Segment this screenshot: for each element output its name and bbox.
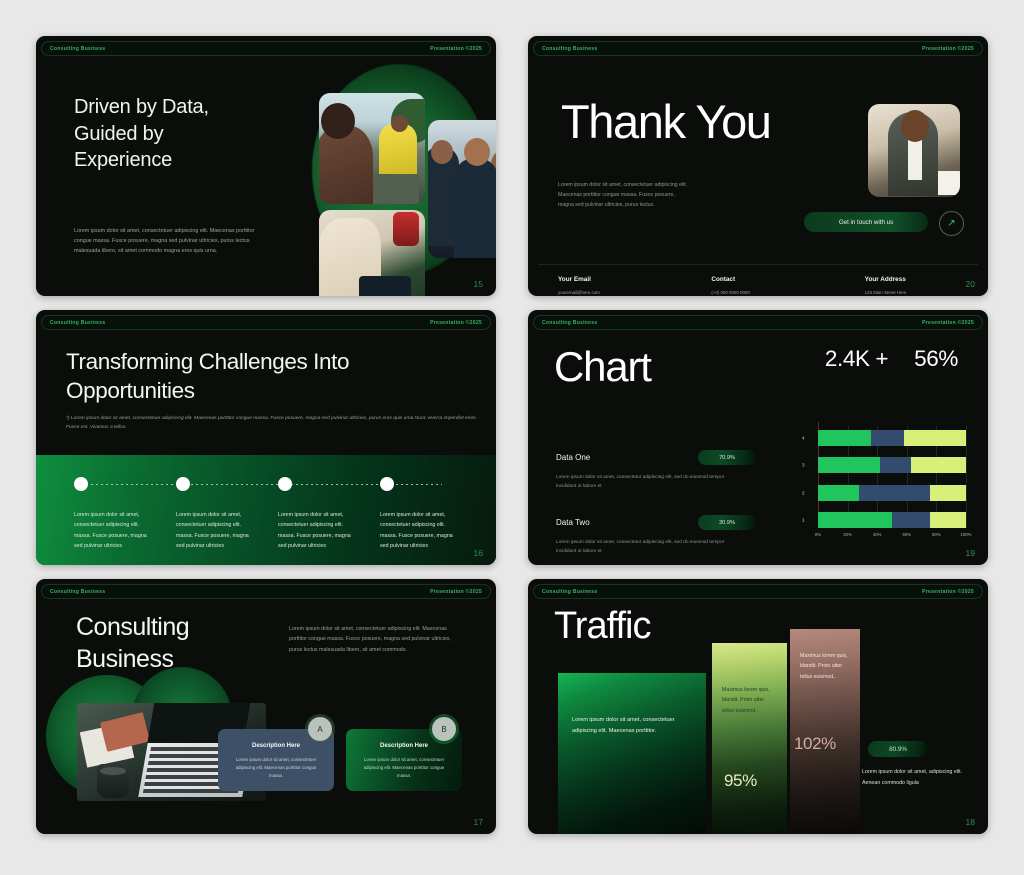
chart-x-tick: 100% [961, 532, 972, 537]
traffic-card-green-text: Lorem ipsum dolor sit amet, consectetuer… [558, 673, 706, 737]
data-two-title: Data Two [556, 518, 590, 527]
chart-bar-segment [930, 512, 966, 528]
body-text: Lorem ipsum dolor sit amet, consectetuer… [74, 226, 267, 256]
chart-x-tick: 80% [932, 532, 941, 537]
percent-value: 30.9% [719, 520, 735, 526]
timeline-dot-icon [176, 477, 190, 491]
data-one-percent-badge: 70.9% [698, 450, 756, 465]
chart-bar-segment [930, 485, 966, 501]
page-title: Traffic [554, 607, 650, 645]
page-title: Consulting Business [76, 611, 266, 675]
chart-y-tick: 3 [802, 463, 805, 468]
timeline-steps: Lorem ipsum dolor sit amet, consectetuer… [36, 455, 496, 551]
slide-consulting-business[interactable]: Consulting Business Presentation ©2025 C… [36, 579, 496, 834]
card-body: Lorem ipsum dolor sit amet, consectetuer… [230, 756, 322, 780]
card-title: Description Here [230, 743, 322, 749]
traffic-card-lime: Maximus lorem quis, blandit. Proin utter… [712, 643, 787, 834]
chart-y-tick: 1 [802, 518, 805, 523]
contact-label: Contact [711, 276, 834, 283]
chart-bar-segment [818, 485, 859, 501]
traffic-card-lime-text: Maximus lorem quis, blandit. Proin utter… [712, 643, 787, 716]
timeline-step-text: Lorem ipsum dolor sit amet, consectetuer… [74, 510, 148, 551]
header-brand: Consulting Business [50, 46, 105, 52]
chart-bar-row [818, 430, 966, 446]
page-title: Chart [554, 346, 651, 388]
chart-bar-segment [880, 457, 911, 473]
data-two-percent-badge: 30.9% [698, 515, 756, 530]
chart-bar-segment [818, 457, 880, 473]
contact-label: Your Email [558, 276, 681, 283]
percent-value: 70.9% [719, 455, 735, 461]
page-number: 17 [474, 817, 483, 827]
card-badge-b: B [432, 717, 456, 741]
chart-bar-segment [859, 485, 930, 501]
timeline-step-text: Lorem ipsum dolor sit amet, consectetuer… [380, 510, 454, 551]
timeline-dot-icon [278, 477, 292, 491]
kpi-total: 2.4K + [825, 346, 888, 372]
chart-bar-row [818, 457, 966, 473]
slide-header: Consulting Business Presentation ©2025 [533, 41, 983, 56]
data-one-body: Lorem ipsum dolor sit amet, consectetur … [556, 473, 734, 492]
chart-bar-segment [818, 430, 871, 446]
traffic-stat-mauve: 102% [794, 734, 836, 754]
timeline-step[interactable]: Lorem ipsum dolor sit amet, consectetuer… [368, 455, 470, 551]
chart-bar-segment [904, 430, 966, 446]
slide-thank-you[interactable]: Consulting Business Presentation ©2025 T… [528, 36, 988, 296]
slide-header: Consulting Business Presentation ©2025 [41, 315, 491, 330]
data-two-body: Lorem ipsum dolor sit amet, consectetur … [556, 538, 734, 557]
chart-bar-segment [911, 457, 966, 473]
slide-driven-by-data[interactable]: Consulting Business Presentation ©2025 D… [36, 36, 496, 296]
slide-header: Consulting Business Presentation ©2025 [41, 41, 491, 56]
chart-bar-row [818, 485, 966, 501]
team-trio-photo [428, 120, 496, 258]
consulting-meeting-photo [319, 93, 425, 204]
data-two-block: Data Two 30.9% Lorem ipsum dolor sit ame… [556, 515, 756, 557]
badge-letter: A [317, 725, 322, 734]
timeline-band: Lorem ipsum dolor sit amet, consectetuer… [36, 455, 496, 565]
header-brand: Consulting Business [542, 589, 597, 595]
timeline-step-text: Lorem ipsum dolor sit amet, consectetuer… [278, 510, 352, 551]
page-number: 19 [966, 548, 975, 558]
chart-gridline [966, 426, 967, 528]
header-brand: Consulting Business [542, 46, 597, 52]
chart-x-tick: 0% [815, 532, 821, 537]
header-copyright: Presentation ©2025 [430, 589, 482, 595]
header-copyright: Presentation ©2025 [430, 320, 482, 326]
chart-x-tick: 60% [902, 532, 911, 537]
calculator-hands-photo [319, 210, 425, 296]
contact-value: youremail@here.com [558, 290, 681, 295]
timeline-step[interactable]: Lorem ipsum dolor sit amet, consectetuer… [266, 455, 368, 551]
page-number: 20 [966, 279, 975, 289]
header-brand: Consulting Business [50, 320, 105, 326]
divider [538, 264, 978, 265]
chart-bar-segment [871, 430, 904, 446]
header-copyright: Presentation ©2025 [922, 589, 974, 595]
card-title: Description Here [358, 743, 450, 749]
traffic-card-mauve-text: Maximus lorem quis, blandit. Proin utter… [790, 629, 860, 682]
page-number: 15 [474, 279, 483, 289]
traffic-card-mauve: Maximus lorem quis, blandit. Proin utter… [790, 629, 860, 834]
kpi-group: 2.4K + 56% [825, 346, 958, 372]
timeline-step-text: Lorem ipsum dolor sit amet, consectetuer… [176, 510, 250, 551]
traffic-card-green: Lorem ipsum dolor sit amet, consectetuer… [558, 673, 706, 834]
body-text: Lorem ipsum dolor sit amet, consectetuer… [289, 624, 452, 655]
timeline-step[interactable]: Lorem ipsum dolor sit amet, consectetuer… [164, 455, 266, 551]
page-number: 18 [966, 817, 975, 827]
slide-deck-grid: Consulting Business Presentation ©2025 D… [0, 0, 1024, 875]
timeline-dot-icon [74, 477, 88, 491]
chart-bar-segment [818, 512, 892, 528]
contact-phone: Contact (+0) 000 0000 0000 [681, 276, 834, 295]
cta-label: Get in touch with us [839, 219, 893, 226]
arrow-up-right-icon[interactable]: ↗ [939, 211, 964, 236]
timeline-dot-icon [380, 477, 394, 491]
contact-value: 123 Main Street Here [865, 290, 988, 295]
page-title: Transforming Challenges Into Opportuniti… [66, 348, 466, 406]
header-copyright: Presentation ©2025 [430, 46, 482, 52]
chart-x-tick: 20% [843, 532, 852, 537]
header-brand: Consulting Business [542, 320, 597, 326]
traffic-right-text: Lorem ipsum dolor sit amet, adipiscing e… [862, 767, 968, 788]
header-brand: Consulting Business [50, 589, 105, 595]
timeline-step[interactable]: Lorem ipsum dolor sit amet, consectetuer… [62, 455, 164, 551]
badge-letter: B [441, 725, 446, 734]
chart-bar-row [818, 512, 966, 528]
get-in-touch-button[interactable]: Get in touch with us [804, 212, 928, 232]
page-title: Driven by Data, Guided by Experience [74, 94, 264, 174]
chart-x-tick-labels: 0%20%40%60%80%100% [818, 532, 966, 546]
slide-header: Consulting Business Presentation ©2025 [41, 584, 491, 599]
slide-chart[interactable]: Consulting Business Presentation ©2025 C… [528, 310, 988, 565]
card-body: Lorem ipsum dolor sit amet, consectetuer… [358, 756, 450, 780]
kpi-percent: 56% [914, 346, 958, 372]
slide-header: Consulting Business Presentation ©2025 [533, 315, 983, 330]
chart-y-tick: 4 [802, 436, 805, 441]
traffic-stat-lime: 95% [724, 771, 757, 791]
intro-text: *) Lorem ipsum dolor sit amet, consectet… [66, 414, 478, 433]
portrait-photo [868, 104, 960, 197]
data-one-title: Data One [556, 453, 590, 462]
data-one-block: Data One 70.9% Lorem ipsum dolor sit ame… [556, 450, 756, 492]
traffic-percent-badge: 80.9% [868, 741, 928, 757]
stacked-bar-chart: 0%20%40%60%80%100% 1234 [796, 426, 966, 546]
contact-value: (+0) 000 0000 0000 [711, 290, 834, 295]
contact-email: Your Email youremail@here.com [528, 276, 681, 295]
page-title: Thank You [561, 98, 771, 145]
slide-transforming-challenges[interactable]: Consulting Business Presentation ©2025 T… [36, 310, 496, 565]
contact-columns: Your Email youremail@here.com Contact (+… [528, 276, 988, 295]
body-text: Lorem ipsum dolor sit amet, consectetuer… [558, 180, 691, 210]
header-copyright: Presentation ©2025 [922, 46, 974, 52]
slide-traffic[interactable]: Consulting Business Presentation ©2025 L… [528, 579, 988, 834]
percent-value: 80.9% [889, 746, 907, 753]
arrow-glyph: ↗ [947, 219, 955, 229]
chart-y-tick: 2 [802, 490, 805, 495]
header-copyright: Presentation ©2025 [922, 320, 974, 326]
chart-bar-segment [892, 512, 930, 528]
slide-header: Consulting Business Presentation ©2025 [533, 584, 983, 599]
chart-x-tick: 40% [873, 532, 882, 537]
page-number: 16 [474, 548, 483, 558]
card-badge-a: A [308, 717, 332, 741]
